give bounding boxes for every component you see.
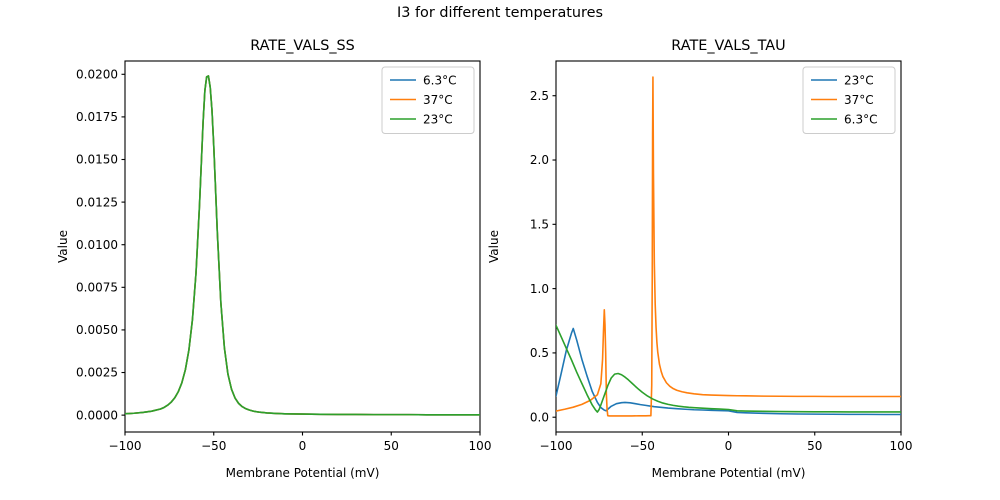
x-tick-label: −50 xyxy=(201,439,226,453)
y-tick-label: 1.5 xyxy=(530,218,549,232)
x-tick-label: −100 xyxy=(109,439,142,453)
subplot-title: RATE_VALS_TAU xyxy=(671,38,785,54)
x-tick-label: 50 xyxy=(807,439,822,453)
legend-label: 23°C xyxy=(844,73,874,87)
x-tick-label: 0 xyxy=(725,439,733,453)
x-tick-label: 0 xyxy=(299,439,307,453)
legend-label: 6.3°C xyxy=(844,112,877,126)
x-tick-label: 100 xyxy=(890,439,913,453)
x-axis-label: Membrane Potential (mV) xyxy=(652,466,806,480)
y-tick-label: 0.0050 xyxy=(76,323,118,337)
y-tick-label: 0.0025 xyxy=(76,366,118,380)
y-tick-label: 2.5 xyxy=(530,89,549,103)
x-axis-label: Membrane Potential (mV) xyxy=(226,466,380,480)
y-tick-label: 0.0200 xyxy=(76,67,118,81)
y-tick-label: 2.0 xyxy=(530,153,549,167)
subplot-rate-vals-tau: RATE_VALS_TAU−100−500501000.00.51.01.52.… xyxy=(430,0,1000,500)
y-axis-label: Value xyxy=(56,230,70,263)
y-tick-label: 0.0 xyxy=(530,410,549,424)
series-line xyxy=(556,325,901,412)
y-tick-label: 0.0100 xyxy=(76,238,118,252)
series-line xyxy=(556,328,901,414)
y-tick-label: 0.0125 xyxy=(76,195,118,209)
matplotlib-figure: I3 for different temperatures RATE_VALS_… xyxy=(0,0,1000,500)
x-tick-label: −50 xyxy=(630,439,655,453)
y-tick-label: 1.0 xyxy=(530,282,549,296)
y-tick-label: 0.0150 xyxy=(76,153,118,167)
x-tick-label: −100 xyxy=(540,439,573,453)
y-tick-label: 0.0075 xyxy=(76,281,118,295)
y-tick-label: 0.0000 xyxy=(76,408,118,422)
y-tick-label: 0.0175 xyxy=(76,110,118,124)
x-tick-label: 50 xyxy=(384,439,399,453)
subplot-rate-vals-ss: RATE_VALS_SS−100−500501000.00000.00250.0… xyxy=(0,0,500,500)
y-tick-label: 0.5 xyxy=(530,346,549,360)
legend-label: 37°C xyxy=(844,93,874,107)
subplot-title: RATE_VALS_SS xyxy=(250,38,355,54)
y-axis-label: Value xyxy=(487,230,501,263)
legend: 23°C37°C6.3°C xyxy=(803,67,895,134)
